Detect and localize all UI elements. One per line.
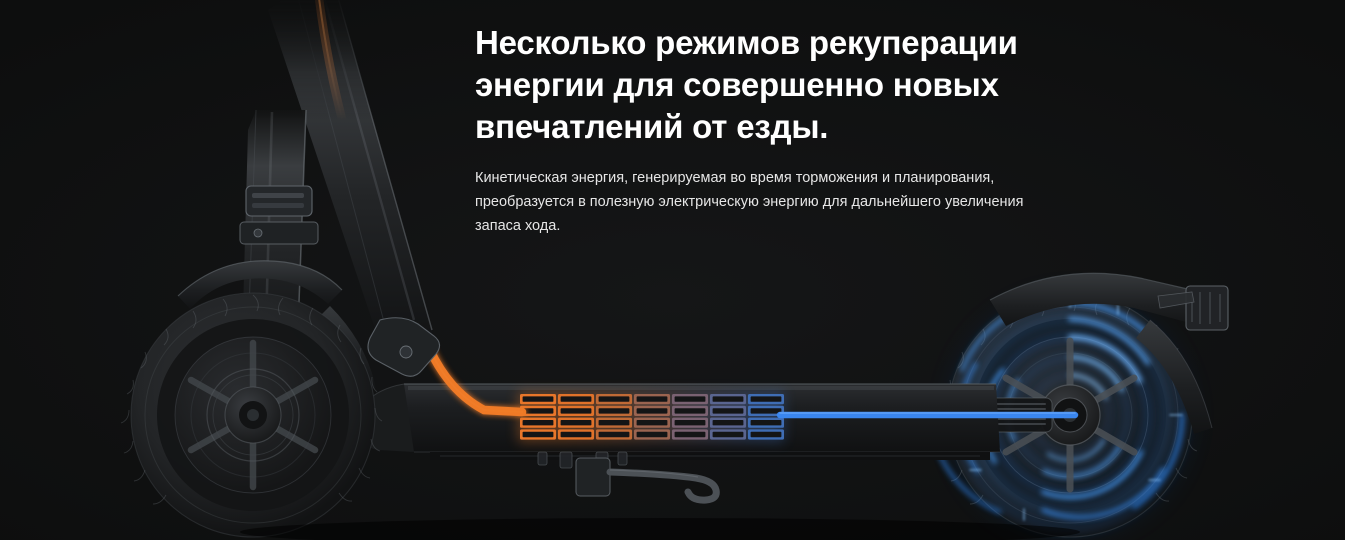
battery-cell-core — [751, 396, 782, 401]
battery-cell-core — [637, 396, 668, 401]
battery-cell-core — [713, 432, 744, 437]
hero-banner: Несколько режимов рекуперации энергии дл… — [0, 0, 1345, 540]
copy-block: Несколько режимов рекуперации энергии дл… — [475, 22, 1055, 238]
battery-cell-core — [523, 408, 554, 413]
battery-cell-core — [713, 408, 744, 413]
battery-cell-core — [599, 408, 630, 413]
battery-cell-core — [713, 420, 744, 425]
battery-cell-core — [637, 420, 668, 425]
battery-cell-core — [637, 432, 668, 437]
battery-cell-core — [523, 420, 554, 425]
page-description: Кинетическая энергия, генерируемая во вр… — [475, 167, 1055, 239]
battery-cell-core — [675, 408, 706, 413]
battery-cell-core — [561, 408, 592, 413]
battery-cell-core — [561, 432, 592, 437]
energy-cable-output — [780, 413, 1075, 415]
battery-cell-core — [751, 432, 782, 437]
battery-cell-core — [523, 396, 554, 401]
battery-cell-core — [523, 432, 554, 437]
battery-cell-core — [599, 396, 630, 401]
stem-clamp — [240, 186, 318, 244]
battery-cell-core — [599, 432, 630, 437]
battery-cell-core — [713, 396, 744, 401]
battery-cell-core — [675, 396, 706, 401]
battery-cell-core — [675, 420, 706, 425]
battery-cell-core — [561, 420, 592, 425]
battery-cell-core — [599, 420, 630, 425]
battery-cell-array — [518, 392, 784, 442]
battery-cell-core — [751, 420, 782, 425]
page-title: Несколько режимов рекуперации энергии дл… — [475, 22, 1055, 148]
battery-cell-core — [637, 408, 668, 413]
battery-cell-core — [675, 432, 706, 437]
battery-cell-core — [561, 396, 592, 401]
